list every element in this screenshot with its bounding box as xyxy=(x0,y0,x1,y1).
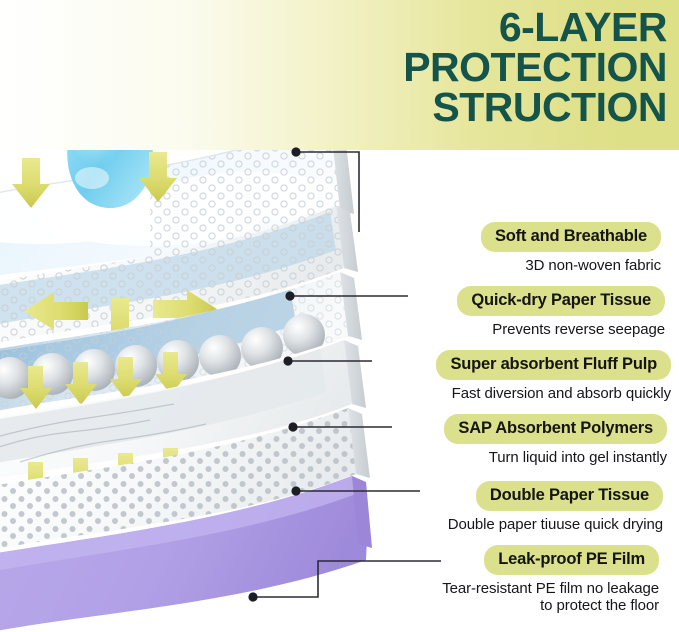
label-title-5: Double Paper Tissue xyxy=(476,481,663,511)
label-title-4: SAP Absorbent Polymers xyxy=(444,414,667,444)
leader-line-6 xyxy=(248,561,441,602)
leader-dot-1 xyxy=(291,147,300,156)
label-caption-2: Prevents reverse seepage xyxy=(457,321,665,339)
label-caption-6-line2: to protect the floor xyxy=(442,597,659,615)
infographic-root: 6-LAYER PROTECTION STRUCTION xyxy=(0,0,679,632)
label-caption-3: Fast diversion and absorb quickly xyxy=(436,385,671,403)
label-group-4: SAP Absorbent Polymers Turn liquid into … xyxy=(444,414,667,466)
leader-dot-5 xyxy=(291,486,300,495)
label-group-5: Double Paper Tissue Double paper tiuuse … xyxy=(448,481,663,533)
label-title-2: Quick-dry Paper Tissue xyxy=(457,286,665,316)
label-group-2: Quick-dry Paper Tissue Prevents reverse … xyxy=(457,286,665,338)
label-caption-5: Double paper tiuuse quick drying xyxy=(448,516,663,534)
leader-dot-2 xyxy=(285,291,294,300)
label-title-6: Leak-proof PE Film xyxy=(484,545,659,575)
leader-dot-4 xyxy=(288,422,297,431)
label-group-1: Soft and Breathable 3D non-woven fabric xyxy=(481,222,661,274)
label-caption-4: Turn liquid into gel instantly xyxy=(444,449,667,467)
leader-line-4 xyxy=(288,422,392,431)
label-caption-1: 3D non-woven fabric xyxy=(481,257,661,275)
label-group-3: Super absorbent Fluff Pulp Fast diversio… xyxy=(436,350,671,402)
leader-line-2 xyxy=(285,291,408,300)
leader-line-1 xyxy=(291,147,359,232)
leader-line-5 xyxy=(291,486,420,495)
leader-line-3 xyxy=(283,356,372,365)
label-caption-6-line1: Tear-resistant PE film no leakage xyxy=(442,580,659,598)
leader-dot-6 xyxy=(248,592,257,601)
label-group-6: Leak-proof PE Film Tear-resistant PE fil… xyxy=(442,545,659,615)
label-title-1: Soft and Breathable xyxy=(481,222,661,252)
leader-dot-3 xyxy=(283,356,292,365)
label-title-3: Super absorbent Fluff Pulp xyxy=(436,350,671,380)
